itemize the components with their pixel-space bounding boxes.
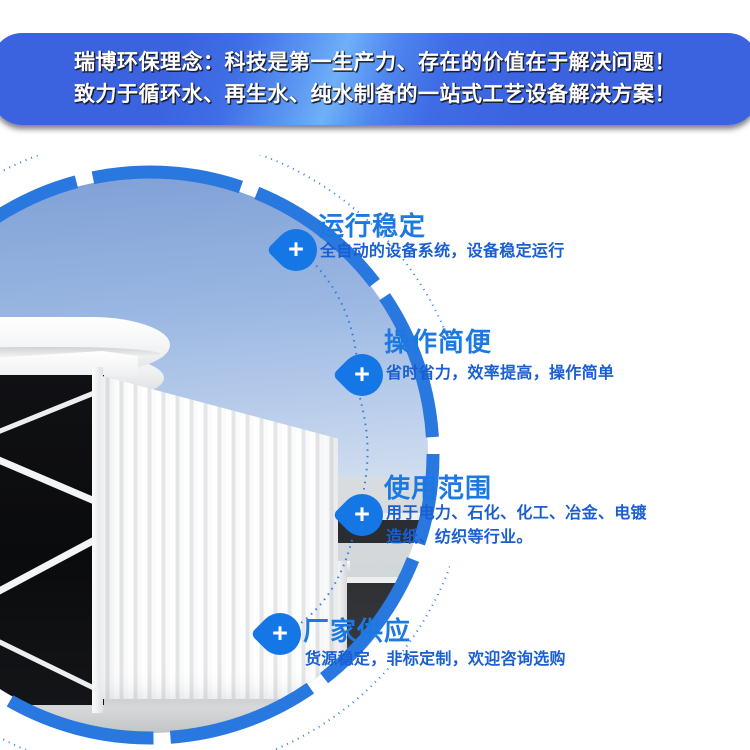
- promo-banner-page: 瑞博环保理念：科技是第一生产力、存在的价值在于解决问题！ 致力于循环水、再生水、…: [0, 0, 750, 750]
- plus-glyph: +: [259, 613, 301, 655]
- feature-description: 用于电力、石化、化工、冶金、电镀: [386, 502, 647, 525]
- plus-icon[interactable]: +: [275, 229, 317, 271]
- plus-glyph: +: [275, 229, 317, 271]
- plus-icon[interactable]: +: [341, 354, 383, 396]
- feature-description: 省时省力，效率提高，操作简单: [386, 362, 614, 385]
- plus-icon[interactable]: +: [259, 613, 301, 655]
- plus-icon[interactable]: +: [341, 494, 383, 536]
- plus-glyph: +: [341, 494, 383, 536]
- feature-description: 全自动的设备系统，设备稳定运行: [320, 240, 565, 263]
- feature-description: 货源稳定，非标定制，欢迎咨询选购: [305, 648, 566, 671]
- feature-title: 厂家供应: [303, 611, 411, 648]
- feature-title: 操作简便: [384, 322, 492, 359]
- feature-description-line2: 造纸、纺织等行业。: [386, 526, 533, 549]
- feature-title: 使用范围: [384, 468, 492, 505]
- plus-glyph: +: [341, 354, 383, 396]
- feature-title: 运行稳定: [318, 206, 426, 243]
